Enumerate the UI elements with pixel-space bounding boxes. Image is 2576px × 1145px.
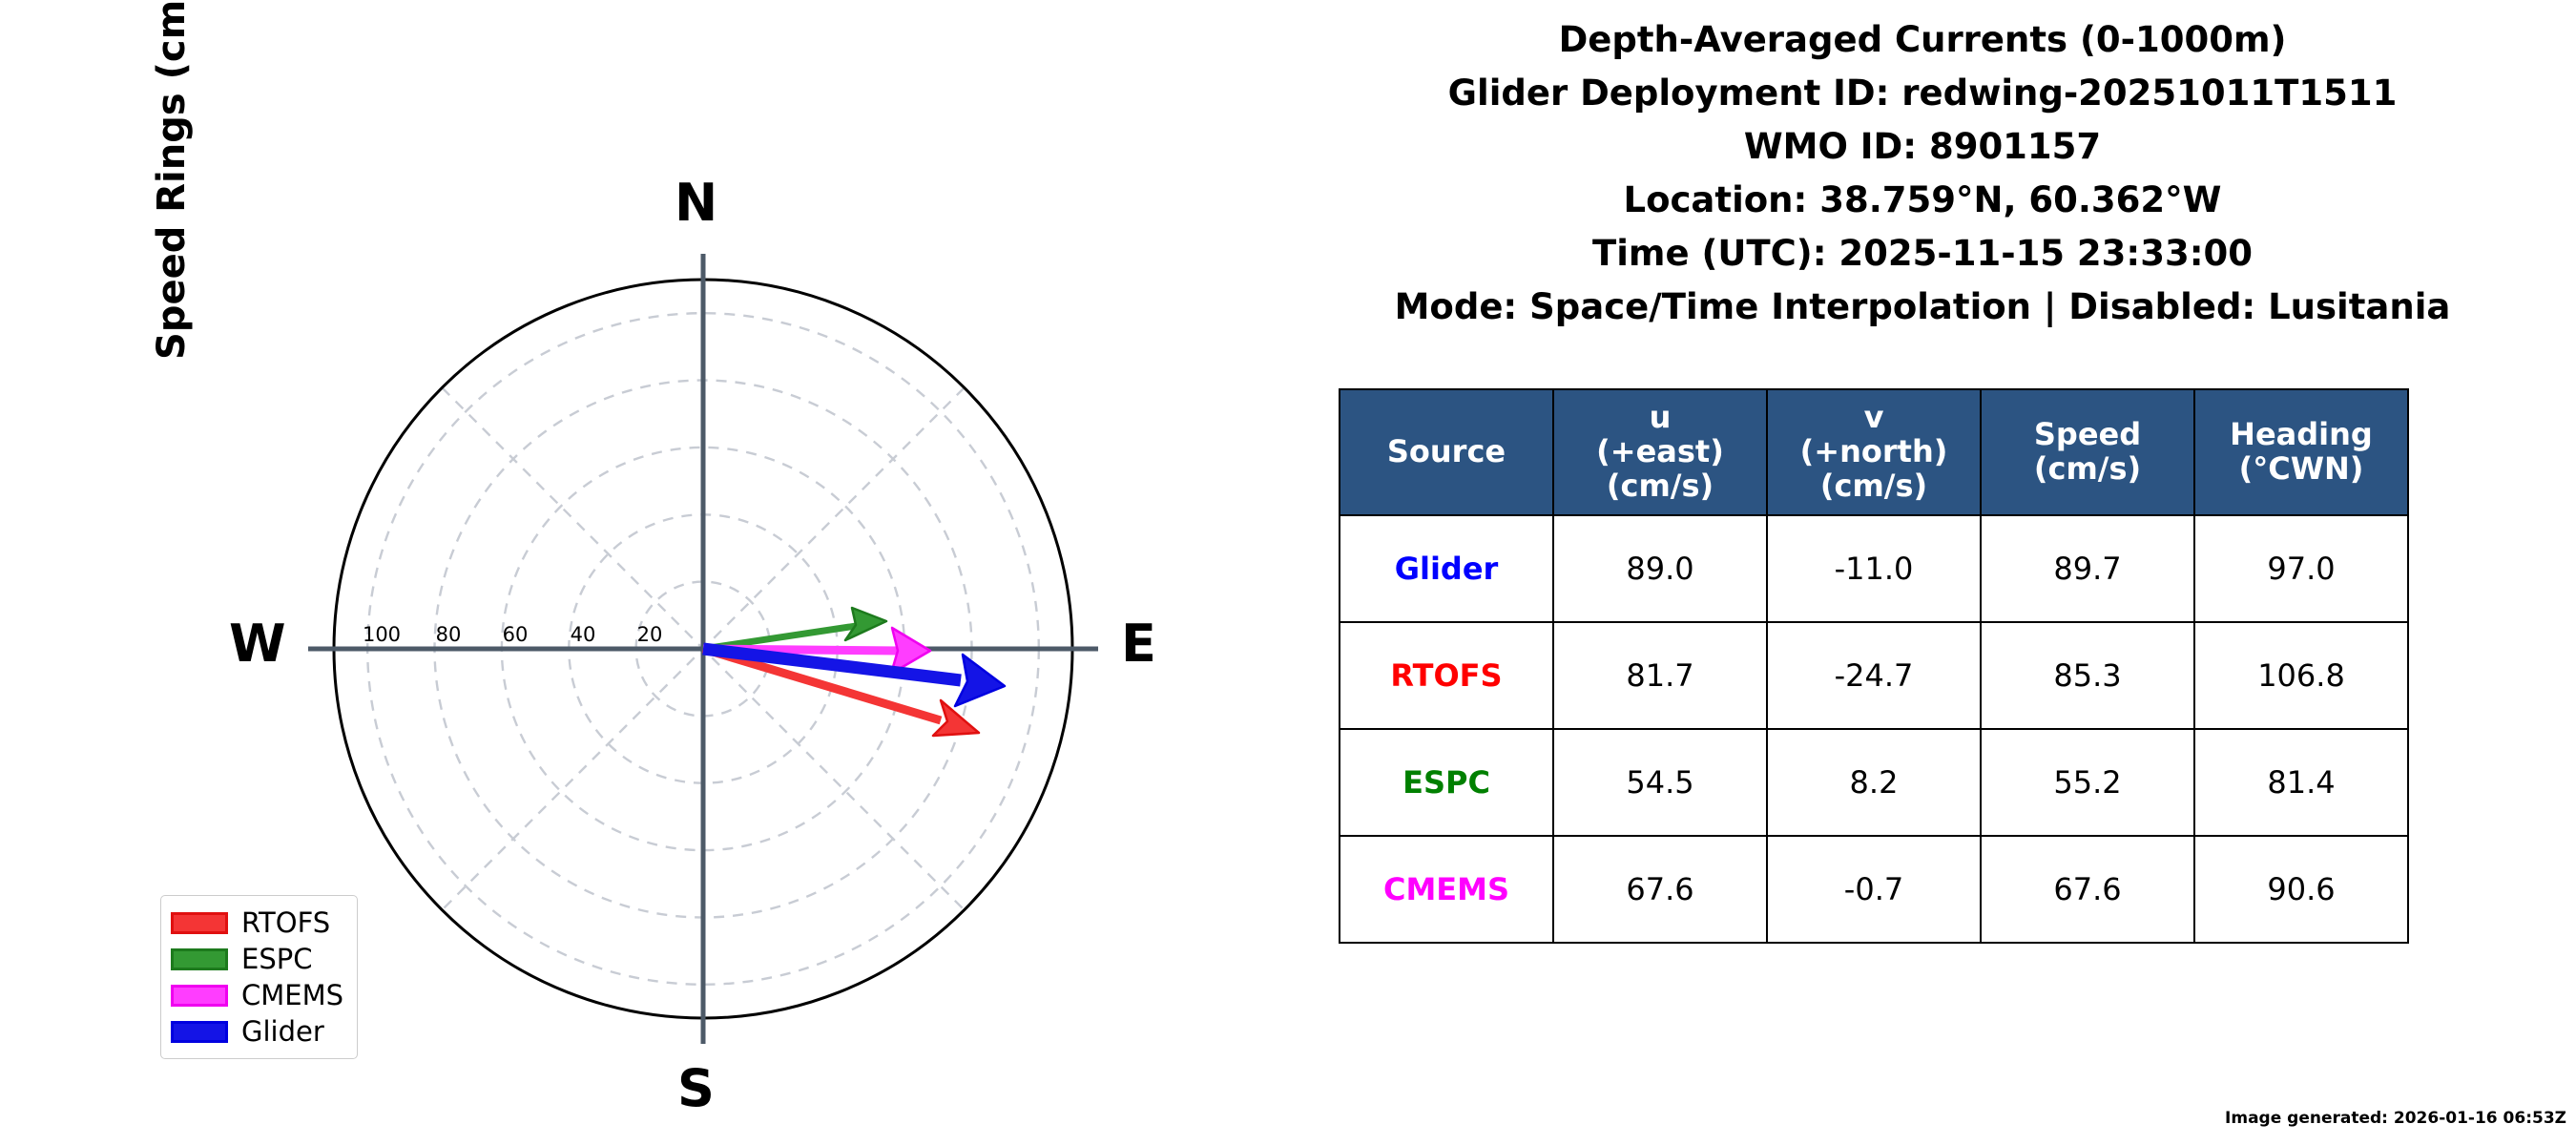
radial-tick-20: 20 <box>637 623 663 646</box>
title-block: Depth-Averaged Currents (0-1000m)Glider … <box>1269 13 2576 334</box>
cell-speed: 55.2 <box>1981 729 2194 836</box>
vector-arrow-espc <box>703 608 886 649</box>
title-line-5: Time (UTC): 2025-11-15 23:33:00 <box>1269 227 2576 281</box>
radial-tick-100: 100 <box>363 623 401 646</box>
radial-tick-60: 60 <box>503 623 529 646</box>
legend-label-espc: ESPC <box>241 943 312 975</box>
title-line-3: WMO ID: 8901157 <box>1269 120 2576 174</box>
table-col-header-speed: Speed(cm/s) <box>1981 389 2194 515</box>
legend-label-glider: Glider <box>241 1015 324 1048</box>
cell-source-espc: ESPC <box>1340 729 1553 836</box>
legend-swatch-rtofs <box>171 912 228 934</box>
legend-item-rtofs[interactable]: RTOFS <box>171 905 343 941</box>
title-line-6: Mode: Space/Time Interpolation | Disable… <box>1269 281 2576 334</box>
header-text-line: (cm/s) <box>1558 468 1762 503</box>
header-text-line: Source <box>1344 434 1548 468</box>
cell-source-glider: Glider <box>1340 515 1553 622</box>
info-panel: Depth-Averaged Currents (0-1000m)Glider … <box>1269 0 2576 1145</box>
cell-heading: 106.8 <box>2194 622 2408 729</box>
header-text-line: Heading <box>2199 417 2403 451</box>
cell-source-rtofs: RTOFS <box>1340 622 1553 729</box>
cardinal-label-west: W <box>229 618 286 670</box>
cell-u: 67.6 <box>1553 836 1767 943</box>
legend-label-cmems: CMEMS <box>241 979 343 1011</box>
header-text-line: (+north) <box>1772 434 1976 468</box>
table-col-header-u: u(+east)(cm/s) <box>1553 389 1767 515</box>
table-row: ESPC54.58.255.281.4 <box>1340 729 2408 836</box>
title-line-4: Location: 38.759°N, 60.362°W <box>1269 174 2576 227</box>
header-text-line: (+east) <box>1558 434 1762 468</box>
table-row: CMEMS67.6-0.767.690.6 <box>1340 836 2408 943</box>
cell-heading: 90.6 <box>2194 836 2408 943</box>
table-col-header-source: Source <box>1340 389 1553 515</box>
cell-u: 54.5 <box>1553 729 1767 836</box>
cell-v: -24.7 <box>1767 622 1981 729</box>
header-text-line: (cm/s) <box>1985 451 2190 486</box>
header-text-line: (cm/s) <box>1772 468 1976 503</box>
currents-table-wrap: Sourceu(+east)(cm/s)v(+north)(cm/s)Speed… <box>1339 388 2407 944</box>
cell-speed: 67.6 <box>1981 836 2194 943</box>
legend-swatch-espc <box>171 948 228 970</box>
cell-v: -0.7 <box>1767 836 1981 943</box>
cell-source-cmems: CMEMS <box>1340 836 1553 943</box>
cardinal-label-east: E <box>1121 618 1156 670</box>
cell-speed: 85.3 <box>1981 622 2194 729</box>
polar-radial-axis-label: Speed Rings (cm/s) <box>143 0 200 420</box>
currents-table: Sourceu(+east)(cm/s)v(+north)(cm/s)Speed… <box>1339 388 2409 944</box>
cell-heading: 81.4 <box>2194 729 2408 836</box>
table-header-row: Sourceu(+east)(cm/s)v(+north)(cm/s)Speed… <box>1340 389 2408 515</box>
table-row: Glider89.0-11.089.797.0 <box>1340 515 2408 622</box>
radial-tick-80: 80 <box>436 623 462 646</box>
table-body: Glider89.0-11.089.797.0RTOFS81.7-24.785.… <box>1340 515 2408 943</box>
title-line-1: Depth-Averaged Currents (0-1000m) <box>1269 13 2576 67</box>
header-text-line: Speed <box>1985 417 2190 451</box>
cell-heading: 97.0 <box>2194 515 2408 622</box>
plot-legend: RTOFSESPCCMEMSGlider <box>160 895 358 1059</box>
image-generated-note: Image generated: 2026-01-16 06:53Z <box>2225 1109 2566 1128</box>
cell-v: 8.2 <box>1767 729 1981 836</box>
legend-item-glider[interactable]: Glider <box>171 1013 343 1050</box>
table-col-header-v: v(+north)(cm/s) <box>1767 389 1981 515</box>
cardinal-label-north: N <box>675 177 717 229</box>
polar-plot-panel: 100 80 60 40 20 Speed Rings (cm/s) <box>0 0 1269 1145</box>
radial-tick-40: 40 <box>571 623 596 646</box>
header-text-line: u <box>1558 400 1762 434</box>
cell-v: -11.0 <box>1767 515 1981 622</box>
cell-u: 89.0 <box>1553 515 1767 622</box>
header-text-line: (°CWN) <box>2199 451 2403 486</box>
header-text-line: v <box>1772 400 1976 434</box>
cell-speed: 89.7 <box>1981 515 2194 622</box>
title-line-2: Glider Deployment ID: redwing-20251011T1… <box>1269 67 2576 120</box>
legend-swatch-glider <box>171 1021 228 1043</box>
radial-tick-labels: 100 80 60 40 20 <box>363 623 662 646</box>
legend-item-espc[interactable]: ESPC <box>171 941 343 977</box>
cell-u: 81.7 <box>1553 622 1767 729</box>
legend-swatch-cmems <box>171 985 228 1007</box>
legend-item-cmems[interactable]: CMEMS <box>171 977 343 1013</box>
table-header: Sourceu(+east)(cm/s)v(+north)(cm/s)Speed… <box>1340 389 2408 515</box>
legend-label-rtofs: RTOFS <box>241 906 330 939</box>
table-row: RTOFS81.7-24.785.3106.8 <box>1340 622 2408 729</box>
table-col-header-heading: Heading(°CWN) <box>2194 389 2408 515</box>
cardinal-label-south: S <box>677 1063 715 1114</box>
